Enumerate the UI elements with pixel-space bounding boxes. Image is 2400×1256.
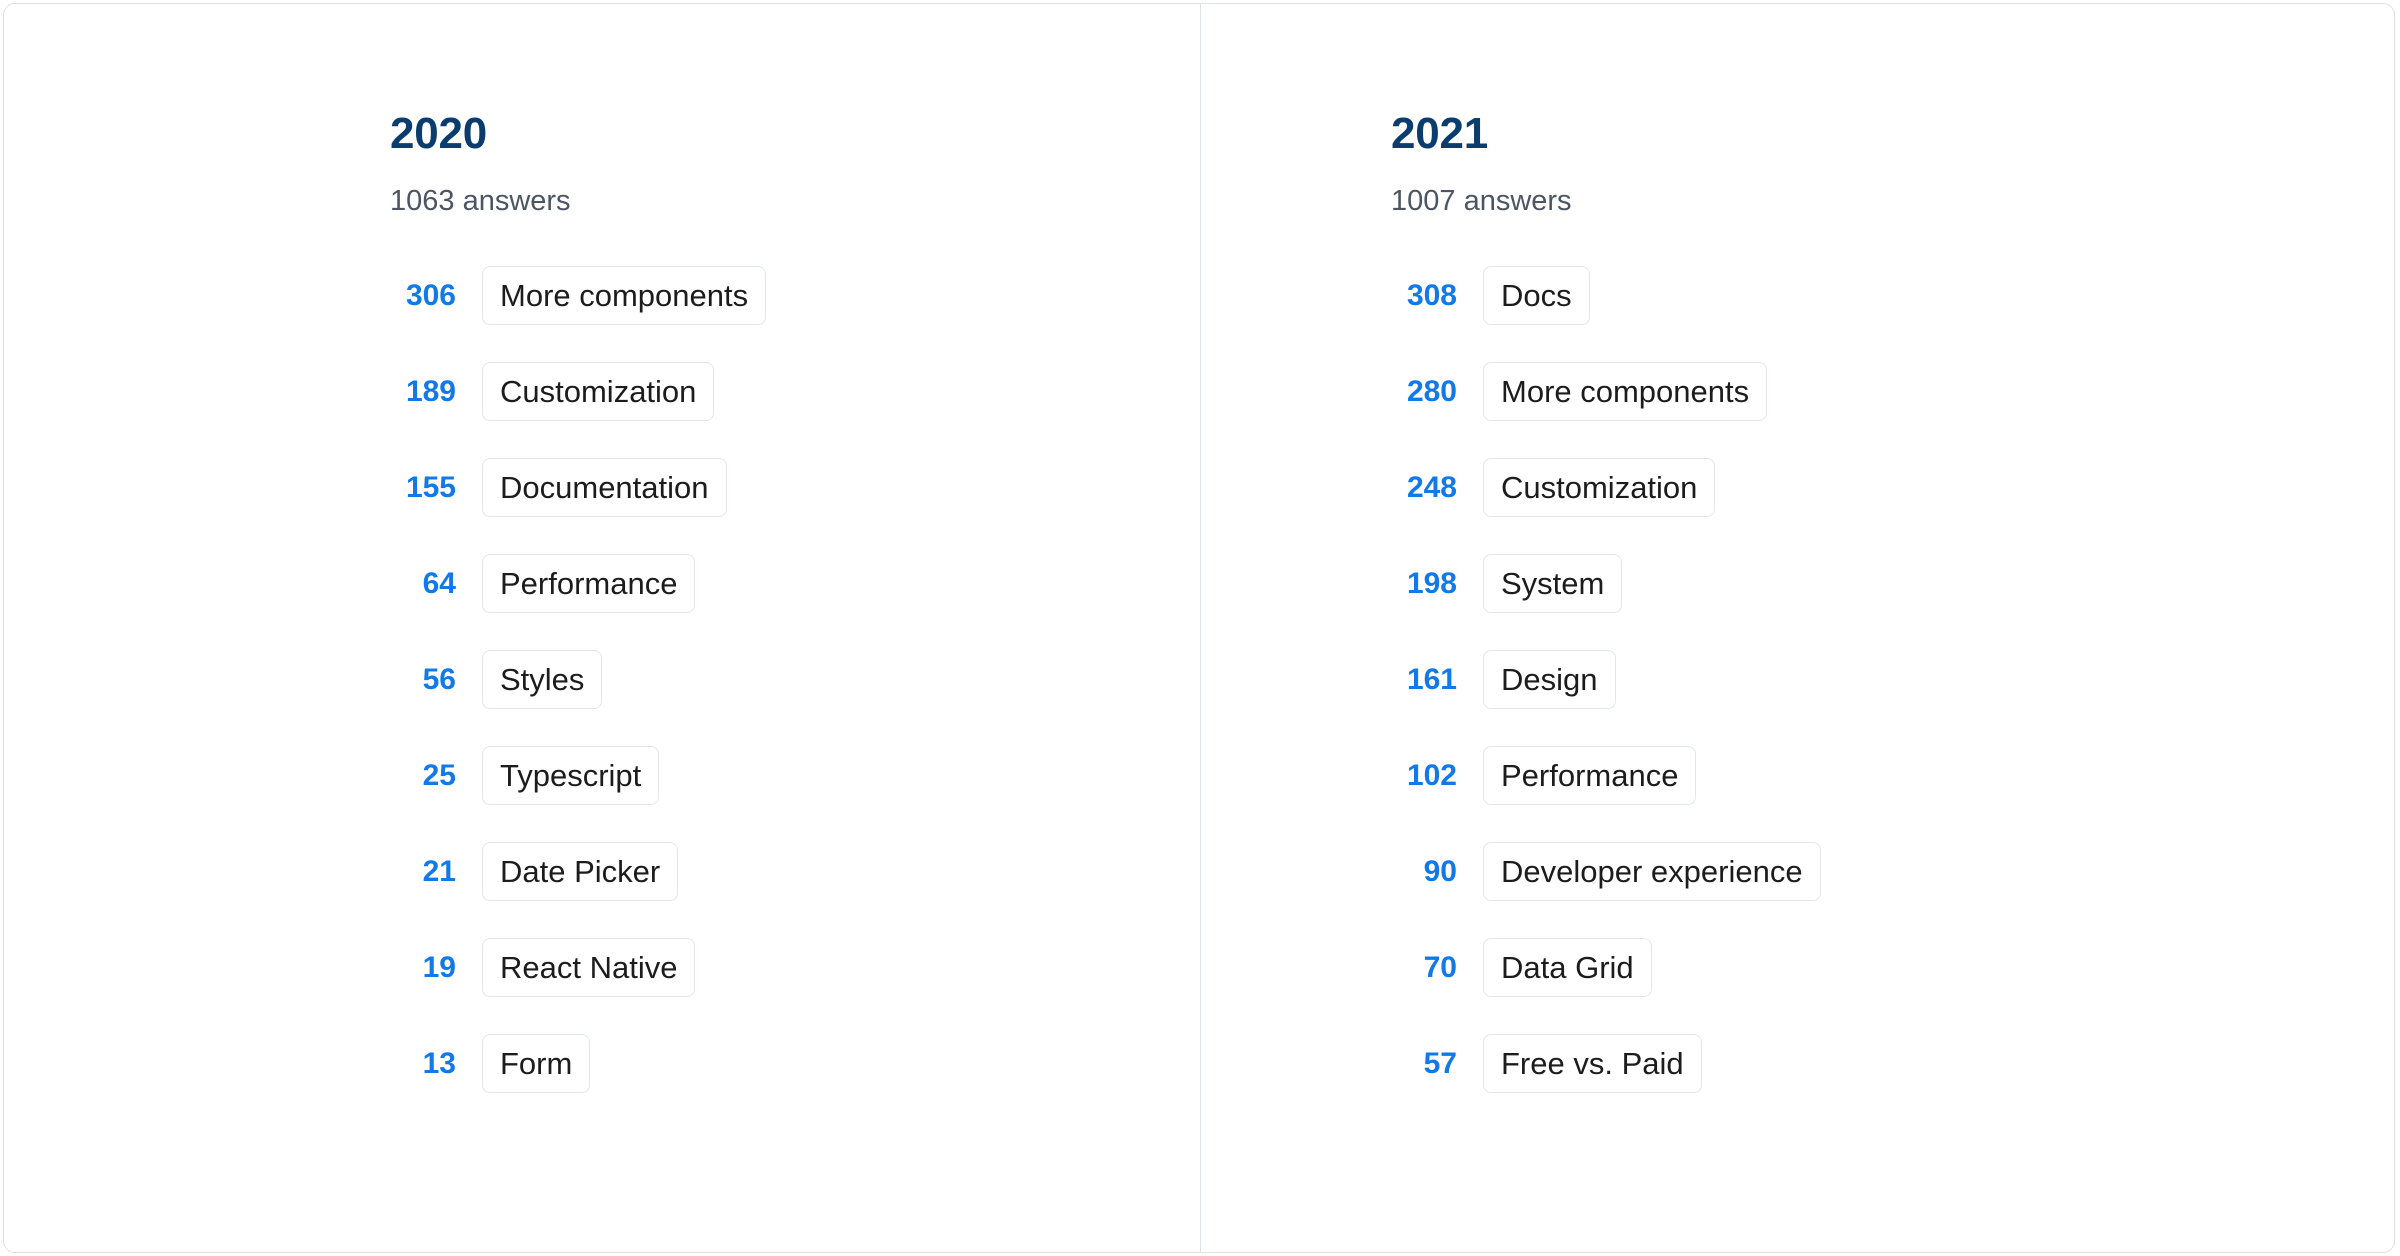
rank-value: 189 [390, 377, 456, 407]
rank-chip[interactable]: Customization [482, 362, 714, 421]
list-item[interactable]: 21 Date Picker [390, 842, 1200, 901]
list-item[interactable]: 90 Developer experience [1391, 842, 2394, 901]
rank-chip[interactable]: Form [482, 1034, 590, 1093]
rank-list-2021: 308 Docs 280 More components 248 Customi… [1391, 266, 2394, 1093]
rank-value: 155 [390, 473, 456, 503]
rank-value: 70 [1391, 953, 1457, 983]
survey-results-card: 2020 1063 answers 306 More components 18… [3, 3, 2395, 1253]
rank-chip[interactable]: System [1483, 554, 1622, 613]
list-item[interactable]: 13 Form [390, 1034, 1200, 1093]
rank-chip[interactable]: Performance [482, 554, 695, 613]
rank-value: 21 [390, 857, 456, 887]
year-panel-2020: 2020 1063 answers 306 More components 18… [4, 4, 1200, 1252]
list-item[interactable]: 280 More components [1391, 362, 2394, 421]
rank-value: 306 [390, 281, 456, 311]
rank-chip[interactable]: Free vs. Paid [1483, 1034, 1702, 1093]
list-item[interactable]: 70 Data Grid [1391, 938, 2394, 997]
rank-value: 198 [1391, 569, 1457, 599]
rank-value: 64 [390, 569, 456, 599]
list-item[interactable]: 56 Styles [390, 650, 1200, 709]
year-panel-2021: 2021 1007 answers 308 Docs 280 More comp… [1201, 4, 2394, 1252]
rank-chip[interactable]: React Native [482, 938, 695, 997]
rank-value: 56 [390, 665, 456, 695]
rank-value: 102 [1391, 761, 1457, 791]
list-item[interactable]: 161 Design [1391, 650, 2394, 709]
year-title: 2021 [1391, 112, 2394, 156]
rank-value: 280 [1391, 377, 1457, 407]
list-item[interactable]: 19 React Native [390, 938, 1200, 997]
rank-chip[interactable]: More components [482, 266, 766, 325]
list-item[interactable]: 306 More components [390, 266, 1200, 325]
list-item[interactable]: 189 Customization [390, 362, 1200, 421]
rank-chip[interactable]: Date Picker [482, 842, 678, 901]
rank-chip[interactable]: More components [1483, 362, 1767, 421]
list-item[interactable]: 248 Customization [1391, 458, 2394, 517]
rank-chip[interactable]: Design [1483, 650, 1616, 709]
rank-chip[interactable]: Performance [1483, 746, 1696, 805]
list-item[interactable]: 25 Typescript [390, 746, 1200, 805]
answers-count: 1007 answers [1391, 187, 2394, 216]
list-item[interactable]: 308 Docs [1391, 266, 2394, 325]
list-item[interactable]: 155 Documentation [390, 458, 1200, 517]
list-item[interactable]: 57 Free vs. Paid [1391, 1034, 2394, 1093]
rank-chip[interactable]: Styles [482, 650, 602, 709]
list-item[interactable]: 64 Performance [390, 554, 1200, 613]
rank-value: 57 [1391, 1049, 1457, 1079]
rank-chip[interactable]: Typescript [482, 746, 659, 805]
rank-value: 19 [390, 953, 456, 983]
rank-chip[interactable]: Customization [1483, 458, 1715, 517]
rank-chip[interactable]: Data Grid [1483, 938, 1652, 997]
rank-chip[interactable]: Docs [1483, 266, 1590, 325]
rank-value: 308 [1391, 281, 1457, 311]
rank-value: 90 [1391, 857, 1457, 887]
list-item[interactable]: 198 System [1391, 554, 2394, 613]
panel-content-2021: 2021 1007 answers 308 Docs 280 More comp… [1201, 112, 2394, 1093]
rank-chip[interactable]: Documentation [482, 458, 727, 517]
rank-value: 25 [390, 761, 456, 791]
list-item[interactable]: 102 Performance [1391, 746, 2394, 805]
rank-value: 161 [1391, 665, 1457, 695]
rank-list-2020: 306 More components 189 Customization 15… [390, 266, 1200, 1093]
rank-value: 13 [390, 1049, 456, 1079]
answers-count: 1063 answers [390, 187, 1200, 216]
panel-content-2020: 2020 1063 answers 306 More components 18… [4, 112, 1200, 1093]
rank-chip[interactable]: Developer experience [1483, 842, 1821, 901]
year-title: 2020 [390, 112, 1200, 156]
rank-value: 248 [1391, 473, 1457, 503]
